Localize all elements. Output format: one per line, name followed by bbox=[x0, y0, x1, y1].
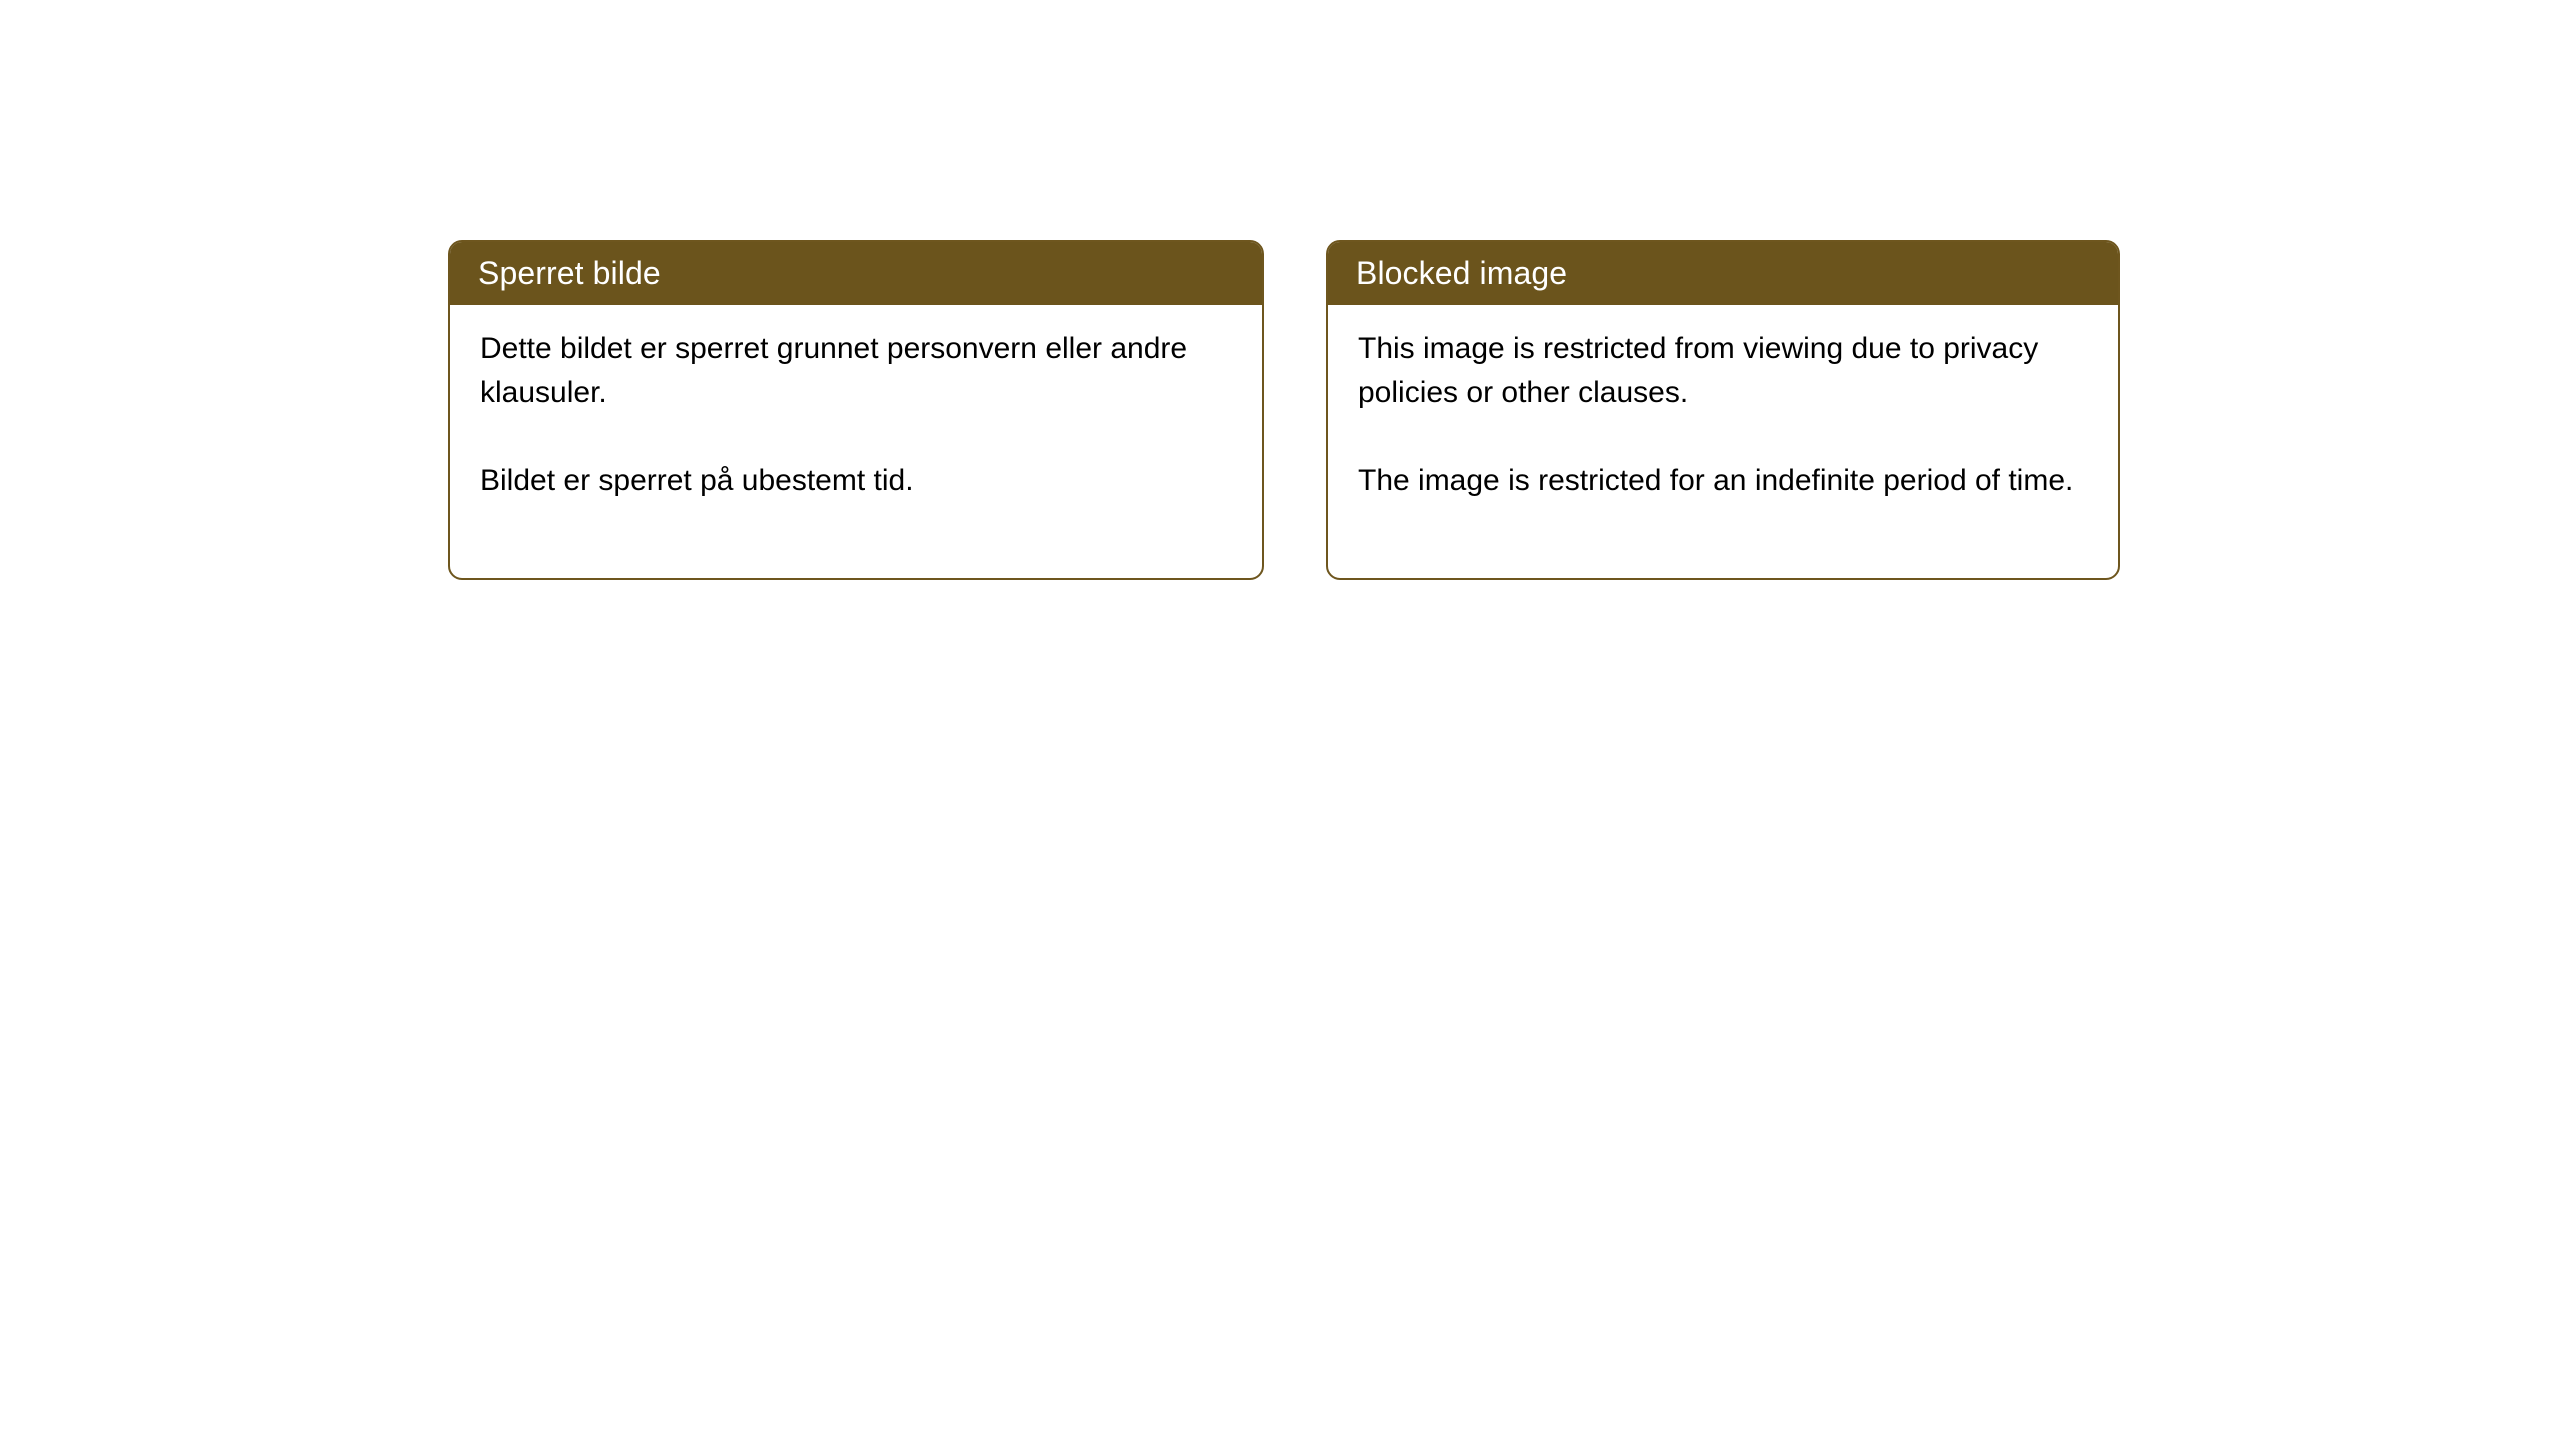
notice-card-norwegian: Sperret bilde Dette bildet er sperret gr… bbox=[448, 240, 1264, 580]
notice-paragraph: This image is restricted from viewing du… bbox=[1358, 327, 2092, 415]
notice-card-title-norwegian: Sperret bilde bbox=[450, 242, 1262, 305]
notice-card-english: Blocked image This image is restricted f… bbox=[1326, 240, 2120, 580]
notice-card-body-norwegian: Dette bildet er sperret grunnet personve… bbox=[450, 305, 1262, 578]
notice-card-title-english: Blocked image bbox=[1328, 242, 2118, 305]
notice-paragraph: Bildet er sperret på ubestemt tid. bbox=[480, 459, 1236, 503]
notice-paragraph: The image is restricted for an indefinit… bbox=[1358, 459, 2092, 503]
notice-card-body-english: This image is restricted from viewing du… bbox=[1328, 305, 2118, 578]
notice-paragraph: Dette bildet er sperret grunnet personve… bbox=[480, 327, 1236, 415]
blocked-image-notices: Sperret bilde Dette bildet er sperret gr… bbox=[448, 240, 2120, 580]
